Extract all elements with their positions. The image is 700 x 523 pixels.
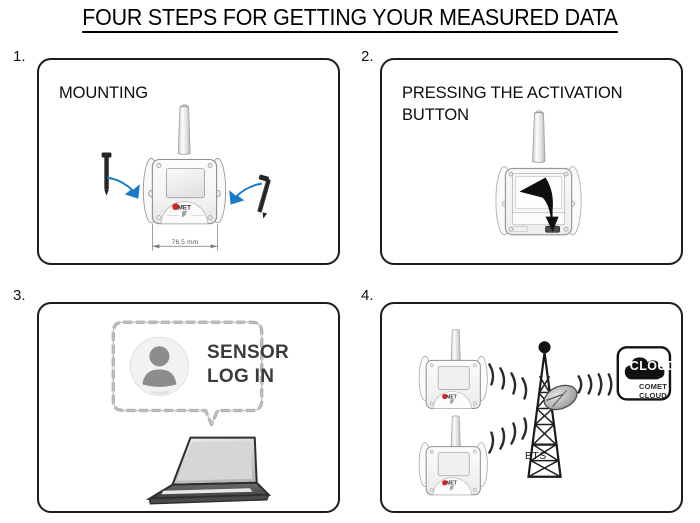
step-2-caption: PRESSING THE ACTIVATION BUTTON — [402, 82, 662, 126]
activation-button-icon — [546, 226, 560, 232]
step-number-4: 4. — [361, 287, 374, 304]
cloud-word-label: CLOUD — [625, 359, 681, 373]
network-cloud-illustration: MET MET — [382, 304, 681, 511]
radio-wave-icon-top — [489, 364, 526, 398]
svg-text:MET: MET — [446, 394, 457, 400]
screw-icon-right — [257, 174, 271, 219]
blue-arrow-icon-right — [229, 183, 262, 205]
dimension-line-icon — [152, 224, 217, 251]
mounting-ear-left — [496, 167, 513, 235]
screw-icon-left — [102, 152, 112, 195]
page-title-text: FOUR STEPS FOR GETTING YOUR MEASURED DAT… — [82, 4, 617, 33]
cloud-caption: COMETCLOUD — [622, 383, 684, 400]
antenna-icon — [178, 105, 190, 155]
dimension-label: 76.5 mm — [135, 239, 235, 246]
laptop-icon — [149, 438, 268, 504]
mounting-ear-left — [143, 158, 159, 222]
mounting-ear-right — [564, 167, 581, 235]
cloud-caption-line-2: CLOUD — [639, 391, 667, 400]
sensor-device-back-icon — [505, 169, 571, 235]
svg-text:MET: MET — [177, 204, 191, 211]
comet-logo-icon: MET — [442, 394, 457, 405]
user-avatar-icon — [130, 337, 188, 395]
mounting-ear-right — [210, 158, 226, 222]
antenna-icon — [451, 416, 460, 449]
sensor-device-top: MET — [419, 330, 487, 409]
dish-antenna-icon — [541, 381, 581, 414]
page-title: FOUR STEPS FOR GETTING YOUR MEASURED DAT… — [25, 4, 676, 31]
step-panel-activation: PRESSING THE ACTIVATION BUTTON — [380, 58, 683, 265]
sensor-device-bottom: MET — [419, 416, 487, 495]
comet-logo-icon: MET — [166, 203, 204, 217]
bubble-text-line-1: SENSOR — [207, 342, 289, 363]
bts-label: BTS — [525, 450, 547, 462]
step-number-2: 2. — [361, 48, 374, 65]
step-panel-mounting: MOUNTING — [37, 58, 340, 265]
step-panel-network-cloud: MET MET — [380, 302, 683, 513]
black-pointer-arrow-icon — [519, 178, 558, 232]
radio-wave-icon-bottom — [489, 419, 526, 453]
sensor-device-front-icon — [152, 159, 216, 223]
sensor-login-illustration — [39, 304, 338, 511]
svg-text:MET: MET — [446, 481, 457, 487]
antenna-icon — [451, 330, 460, 363]
comet-logo-icon: MET — [442, 480, 457, 491]
step-panel-sensor-login: SENSOR LOG IN — [37, 302, 340, 513]
bubble-text-line-2: LOG IN — [207, 366, 274, 387]
radio-wave-icon-cloud — [579, 374, 612, 394]
step-number-1: 1. — [13, 48, 26, 65]
step-number-3: 3. — [13, 287, 26, 304]
blue-arrow-icon-left — [107, 177, 140, 199]
step-1-caption: MOUNTING — [59, 82, 319, 104]
